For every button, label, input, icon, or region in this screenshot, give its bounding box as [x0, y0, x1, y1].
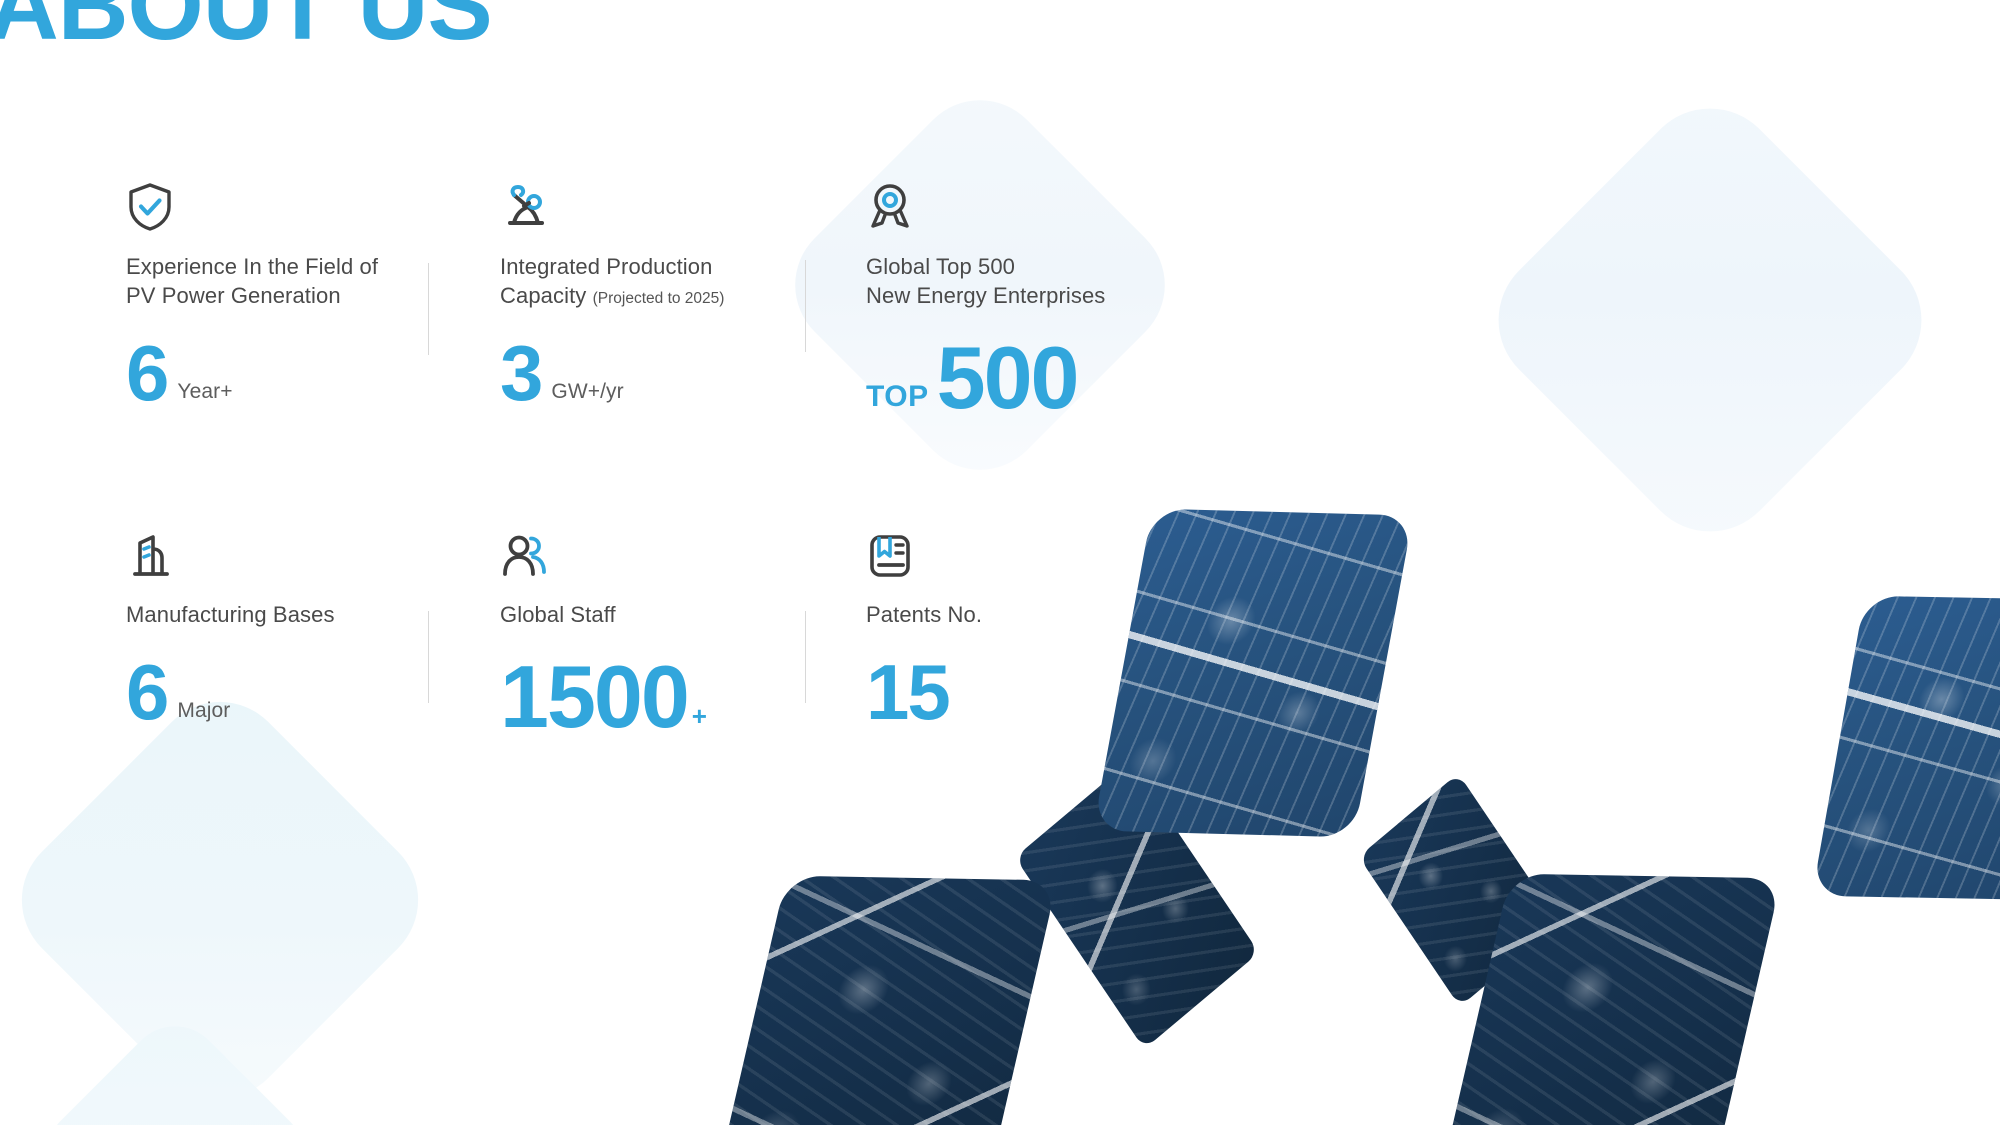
- solar-panel-highlight: [1015, 761, 1259, 1049]
- stat-number: 3: [500, 336, 541, 410]
- solar-panel-texture: [1435, 874, 1782, 1125]
- stat-label-line2: PV Power Generation: [126, 283, 341, 308]
- stat-block-manufacturing-bases: Manufacturing Bases 6 Major: [126, 524, 436, 729]
- solar-panel-tile-bottom-right: [1435, 874, 1782, 1125]
- decorative-diamond-top-right: [1470, 80, 1951, 561]
- stat-unit: Major: [177, 701, 230, 721]
- stat-label-line2: New Energy Enterprises: [866, 283, 1105, 308]
- solar-panel-tile-right-edge: [1812, 596, 2000, 900]
- stat-block-production-capacity: Integrated Production Capacity (Projecte…: [500, 176, 810, 410]
- stat-value: TOP 500: [866, 336, 1176, 420]
- solar-panel-texture: [1015, 761, 1259, 1049]
- stat-plus-suffix: +: [692, 704, 707, 729]
- stat-value: 15: [866, 655, 1176, 729]
- page-title: ABOUT US: [0, 0, 492, 54]
- stat-value: 6 Year+: [126, 336, 436, 410]
- stat-label-line1: Experience In the Field of: [126, 254, 378, 279]
- stat-label: Manufacturing Bases: [126, 600, 436, 629]
- stat-number: 500: [937, 336, 1078, 420]
- solar-panel-tile-bottom-left: [711, 876, 1058, 1125]
- stat-block-experience: Experience In the Field of PV Power Gene…: [126, 176, 436, 410]
- solar-panel-highlight: [711, 876, 1058, 1125]
- stat-number: 15: [866, 655, 949, 729]
- people-group-icon: [500, 524, 810, 580]
- stat-number: 6: [126, 655, 167, 729]
- decorative-diamond-bottom-left: [0, 674, 446, 1125]
- stat-label-line1: Patents No.: [866, 602, 982, 627]
- stat-label: Integrated Production Capacity (Projecte…: [500, 252, 810, 310]
- stat-label: Experience In the Field of PV Power Gene…: [126, 252, 436, 310]
- shield-check-icon: [126, 176, 436, 232]
- stat-label: Patents No.: [866, 600, 1176, 629]
- stat-prefix: TOP: [866, 383, 929, 412]
- stat-label-line1: Global Staff: [500, 602, 616, 627]
- stat-value: 1500 +: [500, 655, 810, 739]
- stat-unit: Year+: [177, 382, 232, 402]
- solar-panel-connector-right: [1359, 773, 1560, 1007]
- solar-panel-highlight: [1812, 596, 2000, 900]
- decorative-diamond-bottom-left-small: [27, 1007, 324, 1125]
- stat-label-line1: Global Top 500: [866, 254, 1015, 279]
- stat-value: 6 Major: [126, 655, 436, 729]
- solar-panel-texture: [711, 876, 1058, 1125]
- solar-panel-highlight: [1359, 773, 1560, 1007]
- solar-panel-texture: [1812, 596, 2000, 900]
- stat-unit: GW+/yr: [551, 382, 623, 402]
- stat-block-global-staff: Global Staff 1500 +: [500, 524, 810, 739]
- stat-label-line1: Integrated Production: [500, 254, 712, 279]
- certificate-document-icon: [866, 524, 1176, 580]
- stat-number: 6: [126, 336, 167, 410]
- stat-block-global-top-500: Global Top 500 New Energy Enterprises TO…: [866, 176, 1176, 420]
- stat-value: 3 GW+/yr: [500, 336, 810, 410]
- stat-number: 1500: [500, 655, 688, 739]
- solar-panel-highlight: [1435, 874, 1782, 1125]
- stat-label: Global Top 500 New Energy Enterprises: [866, 252, 1176, 310]
- stat-label-line2: Capacity: [500, 283, 586, 308]
- stat-label-note: (Projected to 2025): [593, 290, 725, 307]
- stat-label: Global Staff: [500, 600, 810, 629]
- award-medal-icon: [866, 176, 1176, 232]
- factory-building-icon: [126, 524, 436, 580]
- stat-block-patents: Patents No. 15: [866, 524, 1176, 729]
- solar-panel-connector-left: [1015, 761, 1259, 1049]
- robotic-arm-icon: [500, 176, 810, 232]
- stat-label-line1: Manufacturing Bases: [126, 602, 335, 627]
- solar-panel-texture: [1359, 773, 1560, 1007]
